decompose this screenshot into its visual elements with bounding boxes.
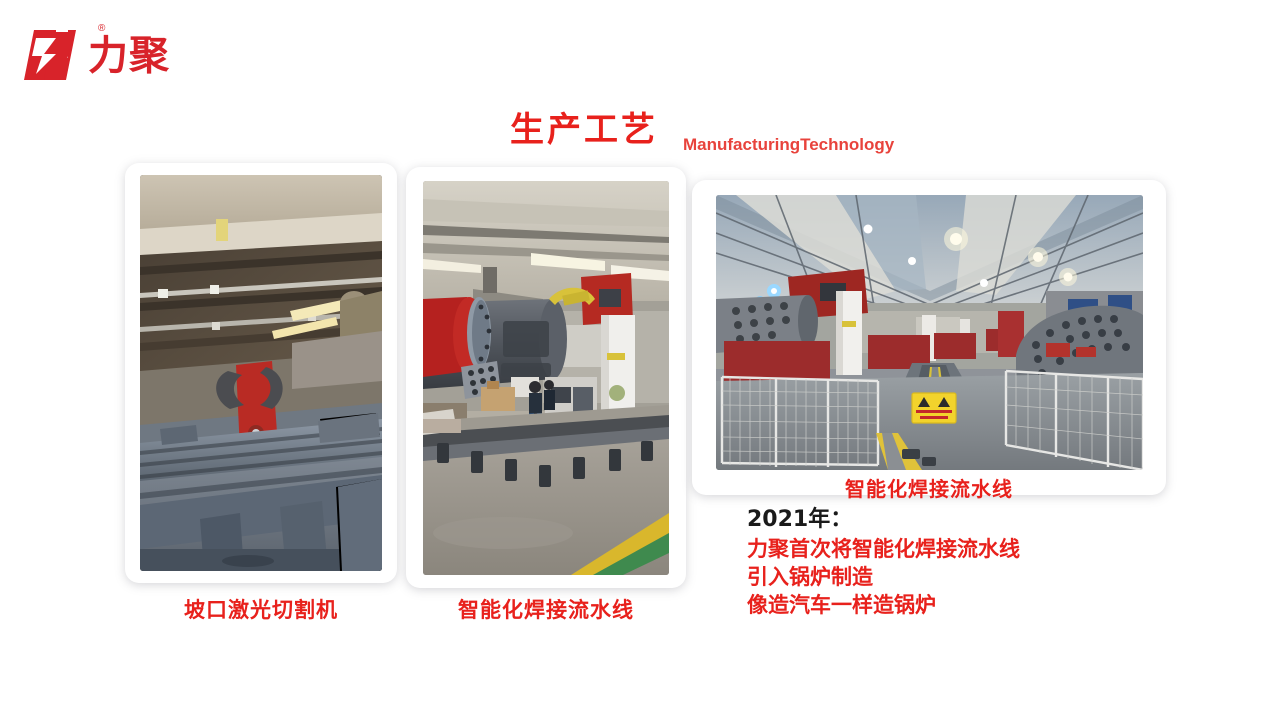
intelligent-welding-line-photo bbox=[423, 181, 669, 575]
description-line-1: 力聚首次将智能化焊接流水线 bbox=[747, 535, 1167, 563]
photo-card-bevel-laser-cutting[interactable] bbox=[125, 163, 397, 583]
description-line-3: 像造汽车一样造锅炉 bbox=[747, 591, 1167, 619]
bevel-laser-cutting-machine-photo bbox=[140, 175, 382, 571]
page-subtitle: ManufacturingTechnology bbox=[683, 135, 894, 155]
photo-card-welding-assembly-line-wide[interactable]: 智能化焊接流水线 bbox=[692, 180, 1166, 495]
photo-card-intelligent-welding-line[interactable] bbox=[406, 167, 686, 588]
description-block: 2021年： 力聚首次将智能化焊接流水线 引入锅炉制造 像造汽车一样造锅炉 bbox=[747, 505, 1167, 619]
intelligent-welding-assembly-line-wide-photo bbox=[716, 195, 1143, 470]
brand-name: 力聚 bbox=[88, 34, 170, 78]
card-caption-intelligent-welding-line: 智能化焊接流水线 bbox=[406, 594, 686, 624]
card-caption-welding-assembly-line-wide: 智能化焊接流水线 bbox=[692, 473, 1166, 502]
page-title: 生产工艺 bbox=[510, 110, 658, 150]
card-caption-bevel-laser-cutting: 坡口激光切割机 bbox=[125, 594, 397, 624]
brand-logo: ® 力聚 bbox=[22, 22, 202, 88]
description-year: 2021年： bbox=[747, 505, 1167, 535]
description-line-2: 引入锅炉制造 bbox=[747, 563, 1167, 591]
liju-lightning-logo-icon bbox=[22, 28, 84, 82]
